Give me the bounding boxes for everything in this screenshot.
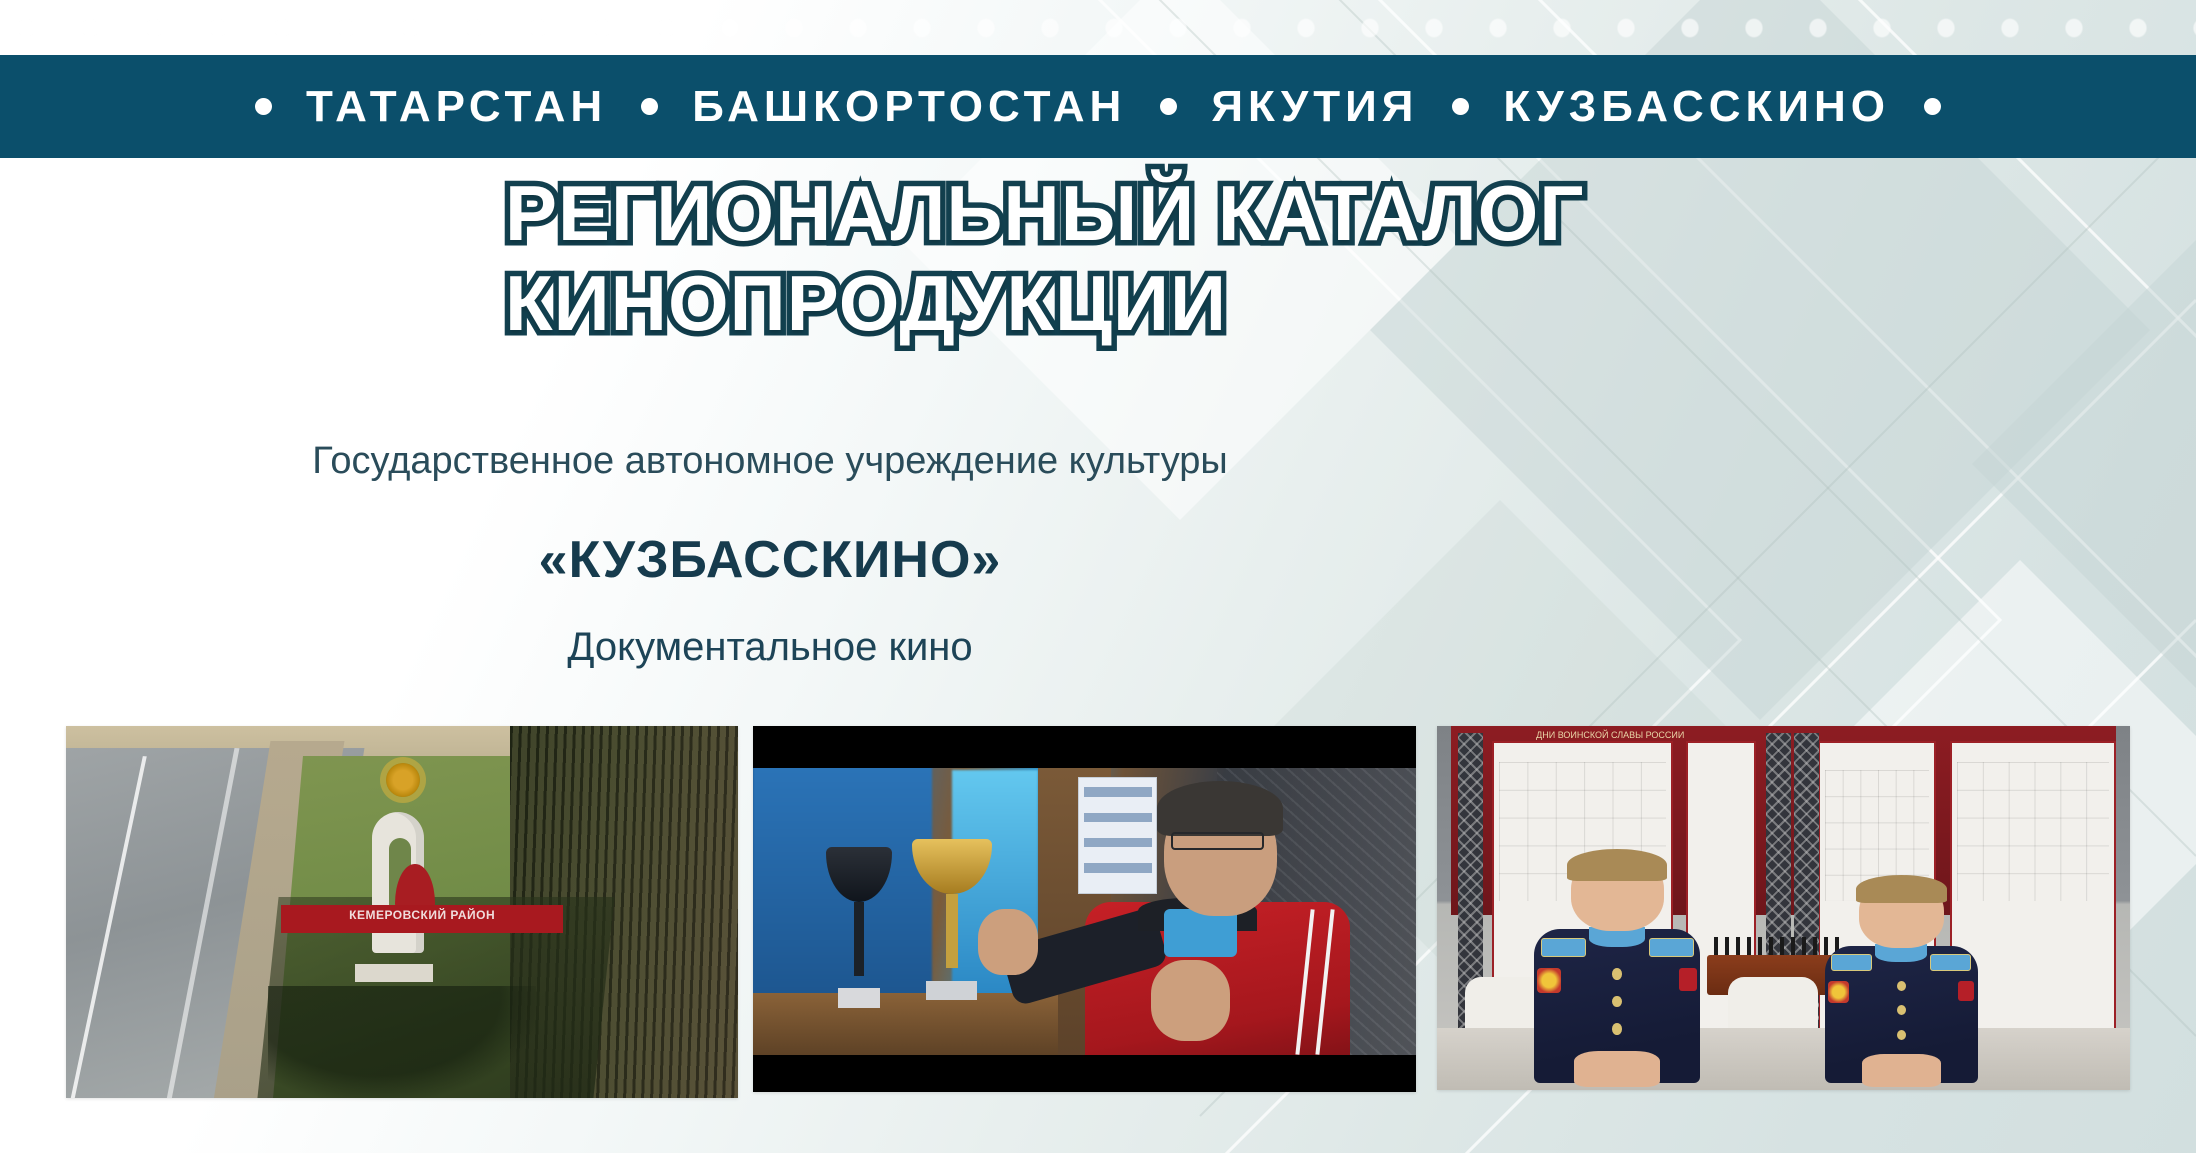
region-label-yakutia: ЯКУТИЯ [1211,82,1418,132]
page-title-line-1: РЕГИОНАЛЬНЫЙ КАТАЛОГ [505,168,1905,258]
page-title: РЕГИОНАЛЬНЫЙ КАТАЛОГ КИНОПРОДУКЦИИ [505,168,1905,349]
page-title-line-2: КИНОПРОДУКЦИИ [505,258,1905,348]
bullet-dot-icon [255,98,272,115]
organization-type-text: Государственное автономное учреждение ку… [0,440,1540,483]
eyeglasses-icon [1171,832,1264,850]
region-label-kuzbasskino: КУЗБАССКИНО [1503,82,1890,132]
region-label-bashkortostan: БАШКОРТОСТАН [692,82,1126,132]
monument-sign-text: КЕМЕРОВСКИЙ РАЙОН [281,908,563,922]
organization-name-text: «КУЗБАССКИНО» [0,530,1540,590]
gallery-image-two-cadets-classroom: ДНИ ВОИНСКОЙ СЛАВЫ РОССИИ [1437,726,2130,1090]
trophy-cup-icon [912,839,992,1000]
slide-canvas: ТАТАРСТАН БАШКОРТОСТАН ЯКУТИЯ КУЗБАССКИН… [0,0,2196,1153]
cadet-figure-right [1825,879,1977,1083]
filmstrip-perforation-decor [0,0,2196,55]
regions-banner-content: ТАТАРСТАН БАШКОРТОСТАН ЯКУТИЯ КУЗБАССКИН… [255,82,1941,132]
gallery-image-interview-coach-trophies [753,726,1416,1092]
region-label-tatarstan: ТАТАРСТАН [306,82,607,132]
board-title-text: ДНИ ВОИНСКОЙ СЛАВЫ РОССИИ [1534,730,1686,742]
cadet-figure-left [1534,853,1700,1082]
regions-banner: ТАТАРСТАН БАШКОРТОСТАН ЯКУТИЯ КУЗБАССКИН… [0,55,2196,158]
bullet-dot-icon [1452,98,1469,115]
monument-sun-emblem-icon [386,763,420,797]
trophy-cup-icon [826,847,892,1008]
bullet-dot-icon [641,98,658,115]
bullet-dot-icon [1160,98,1177,115]
bullet-dot-icon [1924,98,1941,115]
gallery-image-aerial-road-monument: КЕМЕРОВСКИЙ РАЙОН [66,726,738,1098]
category-text: Документальное кино [0,625,1540,670]
